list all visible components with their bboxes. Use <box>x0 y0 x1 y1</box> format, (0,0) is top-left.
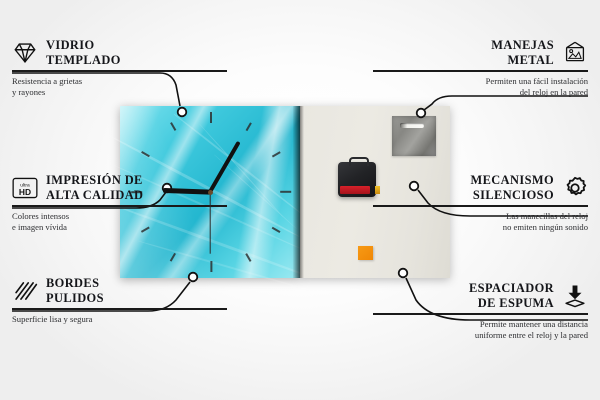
ultra-hd-icon: ultra HD <box>12 175 38 201</box>
callout-impresion-alta-calidad: ultra HD IMPRESIÓN DE ALTA CALIDAD Color… <box>12 173 227 234</box>
callout-title-line2: METAL <box>507 53 554 67</box>
callout-sub-line2: e imagen vívida <box>12 222 67 232</box>
clock-center-hub <box>208 190 213 195</box>
movement-hanging-tab <box>349 157 369 166</box>
polished-edges-icon <box>12 278 38 304</box>
callout-mecanismo-silencioso: MECANISMO SILENCIOSO Las manecillas del … <box>373 173 588 234</box>
callout-title-line2: SILENCIOSO <box>473 188 554 202</box>
svg-text:HD: HD <box>19 187 31 197</box>
foam-spacer-arrow-icon <box>562 283 588 309</box>
callout-rule <box>12 205 227 206</box>
callout-rule <box>373 205 588 206</box>
callout-rule <box>373 70 588 71</box>
callout-title-line2: PULIDOS <box>46 291 104 305</box>
callout-vidrio-templado: VIDRIO TEMPLADO Resistencia a grietas y … <box>12 38 227 99</box>
clock-movement-box <box>338 162 376 197</box>
callout-title-line2: ALTA CALIDAD <box>46 188 143 202</box>
metal-hanger-plate <box>392 116 436 156</box>
callout-rule <box>373 313 588 314</box>
dial-tick <box>210 261 212 272</box>
dial-tick <box>246 122 252 131</box>
callout-sub-line1: Las manecillas del reloj <box>506 211 588 221</box>
callout-title-line1: VIDRIO <box>46 38 95 52</box>
callout-sub-line2: uniforme entre el reloj y la pared <box>475 330 588 340</box>
callout-sub-line1: Colores intensos <box>12 211 69 221</box>
hanger-slot <box>400 123 424 128</box>
dial-tick <box>210 112 212 123</box>
clock-second-hand <box>209 192 210 254</box>
diamond-icon <box>12 40 38 66</box>
callout-sub-line1: Permite mantener una distancia <box>480 319 588 329</box>
callout-title-line1: MANEJAS <box>491 38 554 52</box>
callout-title-line1: MECANISMO <box>471 173 554 187</box>
callout-sub-line2: no emiten ningún sonido <box>503 222 588 232</box>
callout-sub-line1: Superficie lisa y segura <box>12 314 92 324</box>
foam-spacer-pad <box>358 246 373 260</box>
dial-tick <box>280 191 291 193</box>
picture-frame-hanger-icon <box>562 40 588 66</box>
dial-tick <box>272 227 281 233</box>
callout-sub-line1: Permiten una fácil instalación <box>486 76 588 86</box>
callout-title-line1: ESPACIADOR <box>469 281 554 295</box>
callout-title-line1: IMPRESIÓN DE <box>46 173 143 187</box>
callout-manejas-metal: MANEJAS METAL Permiten una fácil instala… <box>373 38 588 99</box>
callout-sub-line1: Resistencia a grietas <box>12 76 82 86</box>
callout-bordes-pulidos: BORDES PULIDOS Superficie lisa y segura <box>12 276 227 325</box>
dial-tick <box>170 122 176 131</box>
dial-tick <box>272 151 281 157</box>
battery-strip <box>340 186 370 194</box>
callout-sub-line2: y rayones <box>12 87 45 97</box>
dial-tick <box>170 253 176 262</box>
callout-rule <box>12 70 227 71</box>
infographic-canvas: VIDRIO TEMPLADO Resistencia a grietas y … <box>0 0 600 400</box>
callout-sub-line2: del reloj en la pared <box>520 87 588 97</box>
callout-title-line1: BORDES <box>46 276 99 290</box>
gear-icon <box>562 175 588 201</box>
callout-title-line2: TEMPLADO <box>46 53 121 67</box>
callout-espaciador-espuma: ESPACIADOR DE ESPUMA Permite mantener un… <box>373 281 588 342</box>
callout-rule <box>12 308 227 309</box>
callout-title-line2: DE ESPUMA <box>478 296 554 310</box>
